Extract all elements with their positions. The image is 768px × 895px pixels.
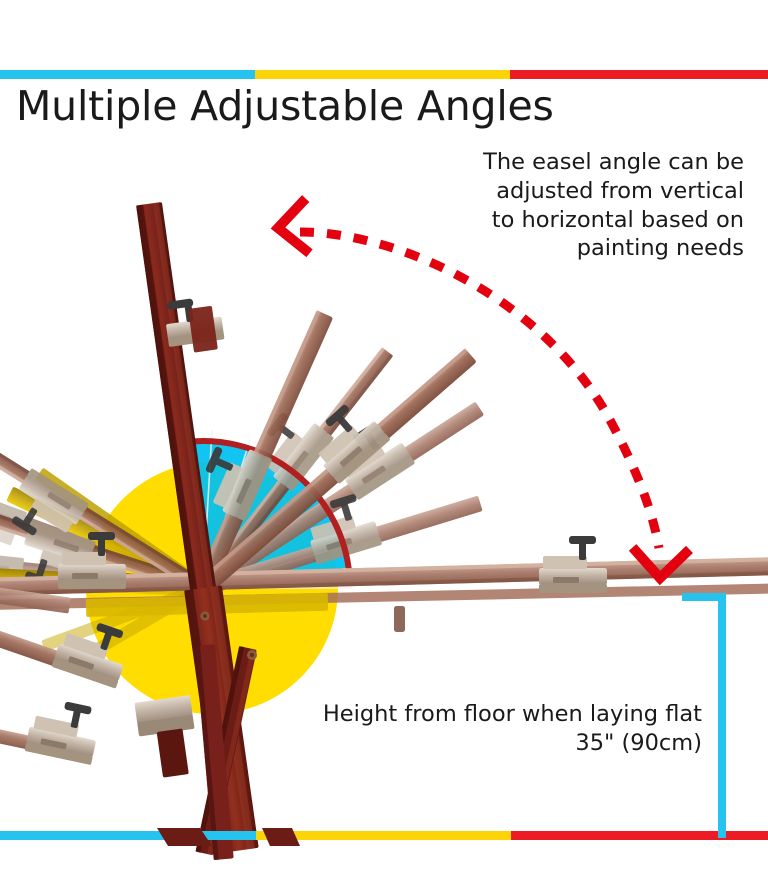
left-arrow-icon — [276, 202, 305, 252]
bottom-bar-cyan — [0, 831, 256, 840]
rotation-note: The easel angle can be adjusted from ver… — [483, 148, 744, 263]
bottom-bar-red — [511, 831, 768, 840]
infographic-page: Multiple Adjustable Angles The easel ang… — [0, 0, 768, 895]
top-bar-cyan — [0, 70, 255, 79]
easel-illustration — [0, 0, 768, 895]
top-color-bar — [0, 70, 768, 79]
height-note: Height from floor when laying flat 35" (… — [323, 700, 702, 758]
bottom-color-bar — [0, 831, 768, 840]
top-bar-red — [510, 70, 768, 79]
right-arm-knob — [394, 606, 405, 632]
top-bar-yellow — [255, 70, 510, 79]
page-title: Multiple Adjustable Angles — [16, 86, 554, 127]
